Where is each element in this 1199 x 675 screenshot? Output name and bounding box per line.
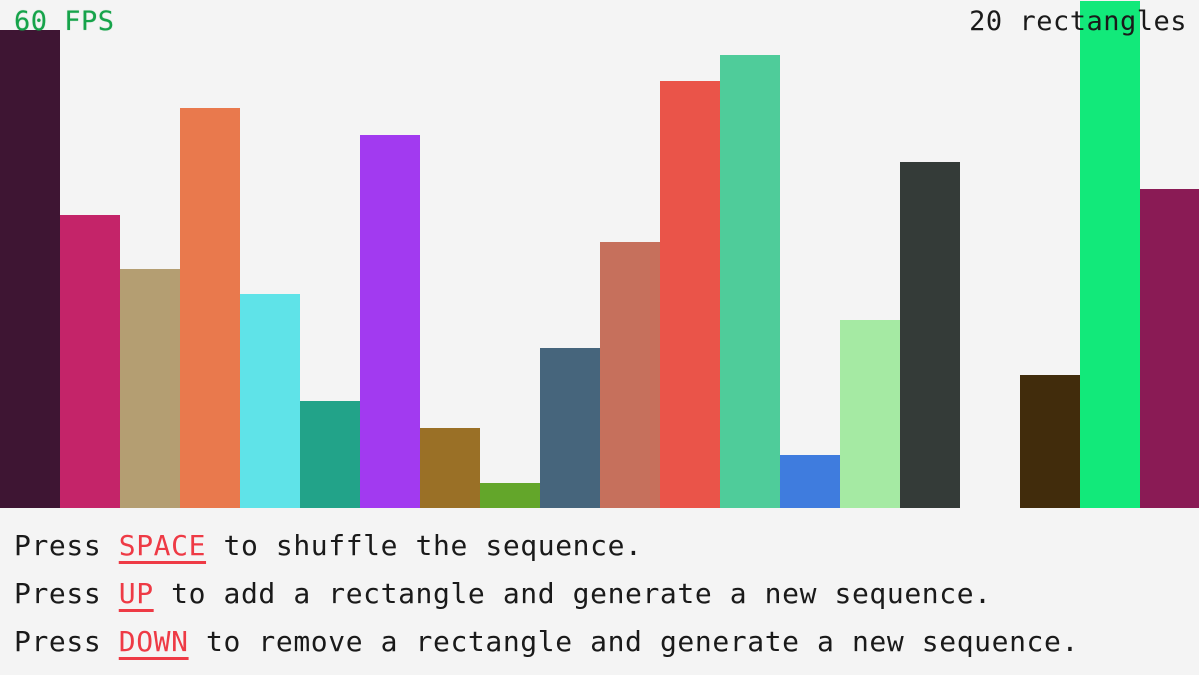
rectangle-count-label: 20 rectangles <box>969 8 1187 35</box>
key-space[interactable]: SPACE <box>119 529 206 562</box>
bar-10 <box>540 348 600 508</box>
bar-8 <box>420 428 480 508</box>
bar-11 <box>600 242 660 508</box>
bar-12 <box>660 81 720 508</box>
bar-15 <box>840 320 900 508</box>
instruction-line-remove: Press DOWN to remove a rectangle and gen… <box>14 618 1199 666</box>
bar-6 <box>300 401 360 508</box>
bar-16 <box>900 162 960 508</box>
bar-4 <box>180 108 240 508</box>
bar-3 <box>120 269 180 508</box>
instruction-prefix: Press <box>14 577 119 610</box>
instruction-prefix: Press <box>14 625 119 658</box>
bar-chart-canvas[interactable] <box>0 0 1199 508</box>
instructions-panel: Press SPACE to shuffle the sequence. Pre… <box>0 508 1199 675</box>
instruction-suffix: to remove a rectangle and generate a new… <box>189 625 1079 658</box>
bar-14 <box>780 455 840 508</box>
bar-18 <box>1020 375 1080 508</box>
app-root: 60 FPS 20 rectangles Press SPACE to shuf… <box>0 0 1199 675</box>
instruction-line-shuffle: Press SPACE to shuffle the sequence. <box>14 522 1199 570</box>
key-down[interactable]: DOWN <box>119 625 189 658</box>
bar-19 <box>1080 1 1140 508</box>
bar-13 <box>720 55 780 508</box>
fps-counter: 60 FPS <box>14 8 115 35</box>
key-up[interactable]: UP <box>119 577 154 610</box>
bar-20 <box>1140 189 1199 508</box>
bar-1 <box>0 30 60 508</box>
bar-7 <box>360 135 420 508</box>
instruction-line-add: Press UP to add a rectangle and generate… <box>14 570 1199 618</box>
bar-5 <box>240 294 300 508</box>
instruction-suffix: to shuffle the sequence. <box>206 529 642 562</box>
bar-2 <box>60 215 120 508</box>
bar-9 <box>480 483 540 508</box>
instruction-suffix: to add a rectangle and generate a new se… <box>154 577 992 610</box>
instruction-prefix: Press <box>14 529 119 562</box>
